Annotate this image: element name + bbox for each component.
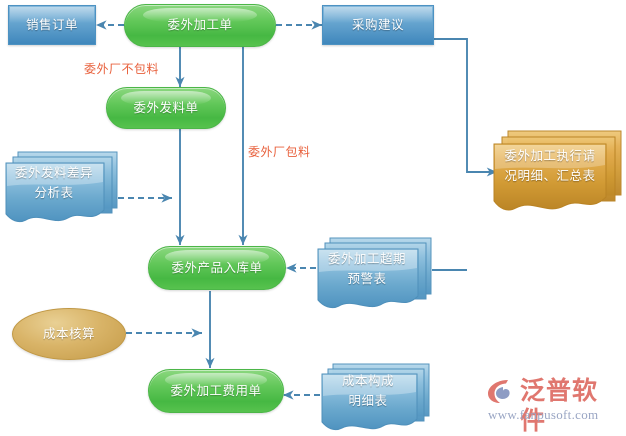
node-outsource-issue[interactable]: 委外发料单 xyxy=(106,87,226,129)
brand-url: www.fanpusoft.com xyxy=(488,407,598,423)
node-label-line2: 预警表 xyxy=(347,269,386,289)
node-label: 委外加工费用单 xyxy=(170,383,261,400)
node-label: 委外加工单 xyxy=(167,17,232,34)
node-outsource-order[interactable]: 委外加工单 xyxy=(124,4,276,47)
edge-purchase-to-execution xyxy=(434,39,497,172)
node-label: 委外产品入库单 xyxy=(171,260,262,277)
node-product-receipt[interactable]: 委外产品入库单 xyxy=(148,246,286,290)
node-label-line1: 委外发料差异 xyxy=(15,163,93,183)
node-label: 成本核算 xyxy=(43,326,95,343)
brand-name: 泛普软件 xyxy=(520,376,622,436)
node-label-line1: 委外加工执行请 xyxy=(504,146,595,166)
node-label-group: 委外加工执行请 况明细、汇总表 xyxy=(492,131,608,201)
node-cost-structure-report[interactable]: 成本构成 明细表 xyxy=(320,364,430,436)
node-overdue-warning-report[interactable]: 委外加工超期 预警表 xyxy=(316,238,432,318)
flowchart-canvas: 销售订单 委外加工单 采购建议 委外发料单 xyxy=(0,0,626,435)
watermark-logo: 泛普软件 www.fanpusoft.com xyxy=(486,376,622,428)
node-sales-order[interactable]: 销售订单 xyxy=(8,5,96,45)
node-label-group: 成本构成 明细表 xyxy=(320,364,416,418)
node-label-line2: 明细表 xyxy=(348,391,387,411)
node-outsource-fee[interactable]: 委外加工费用单 xyxy=(148,369,284,413)
node-label-line2: 况明细、汇总表 xyxy=(504,166,595,186)
node-label: 销售订单 xyxy=(26,17,78,34)
node-label: 委外发料单 xyxy=(133,100,198,117)
node-issue-variance-report[interactable]: 委外发料差异 分析表 xyxy=(4,152,118,232)
node-label-line1: 委外加工超期 xyxy=(328,249,406,269)
node-execution-report[interactable]: 委外加工执行请 况明细、汇总表 xyxy=(492,131,622,223)
node-purchase-suggestion[interactable]: 采购建议 xyxy=(322,5,434,45)
annotation-with-material: 委外厂包料 xyxy=(248,143,311,160)
node-label-line2: 分析表 xyxy=(34,183,73,203)
node-label-line1: 成本构成 xyxy=(342,371,394,391)
node-label-group: 委外加工超期 预警表 xyxy=(316,238,418,300)
brand-mark-icon xyxy=(486,378,516,405)
node-label-group: 委外发料差异 分析表 xyxy=(4,152,104,214)
node-label: 采购建议 xyxy=(352,17,404,34)
annotation-no-material: 委外厂不包料 xyxy=(84,60,159,77)
node-cost-accounting[interactable]: 成本核算 xyxy=(12,308,126,360)
